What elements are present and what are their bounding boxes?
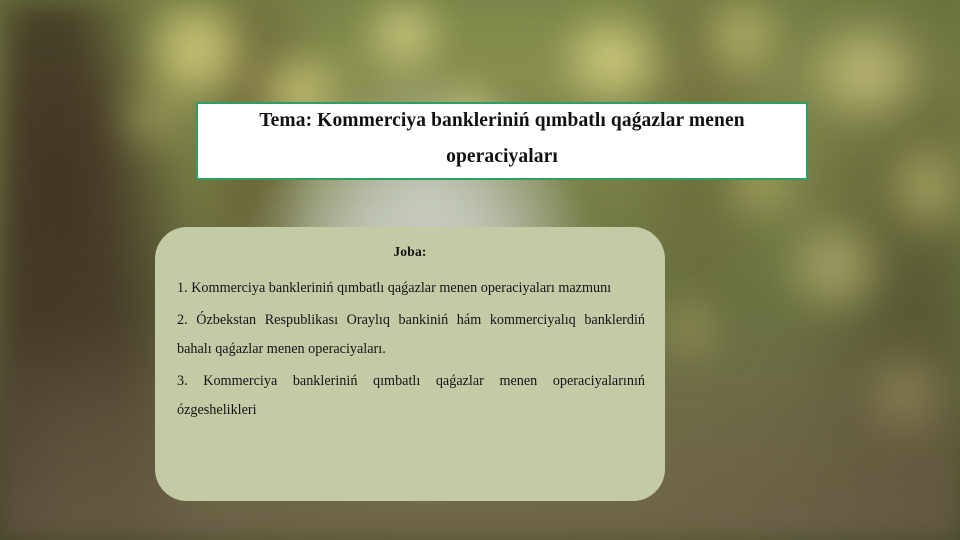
agenda-item: 3. Kommerciya bankleriniń qımbatlı qaǵaz… xyxy=(169,367,651,425)
slide-title-box: Tema: Kommerciya bankleriniń qımbatlı qa… xyxy=(196,102,808,180)
agenda-card: Joba: 1. Kommerciya bankleriniń qımbatlı… xyxy=(155,227,665,501)
agenda-item: 2. Ózbekstan Respublikası Oraylıq bankin… xyxy=(169,306,651,364)
slide-title-text: Tema: Kommerciya bankleriniń qımbatlı qa… xyxy=(212,103,792,175)
agenda-item: 1. Kommerciya bankleriniń qımbatlı qaǵaz… xyxy=(169,274,651,303)
presentation-slide: Tema: Kommerciya bankleriniń qımbatlı qa… xyxy=(0,0,960,540)
agenda-heading: Joba: xyxy=(169,244,651,260)
